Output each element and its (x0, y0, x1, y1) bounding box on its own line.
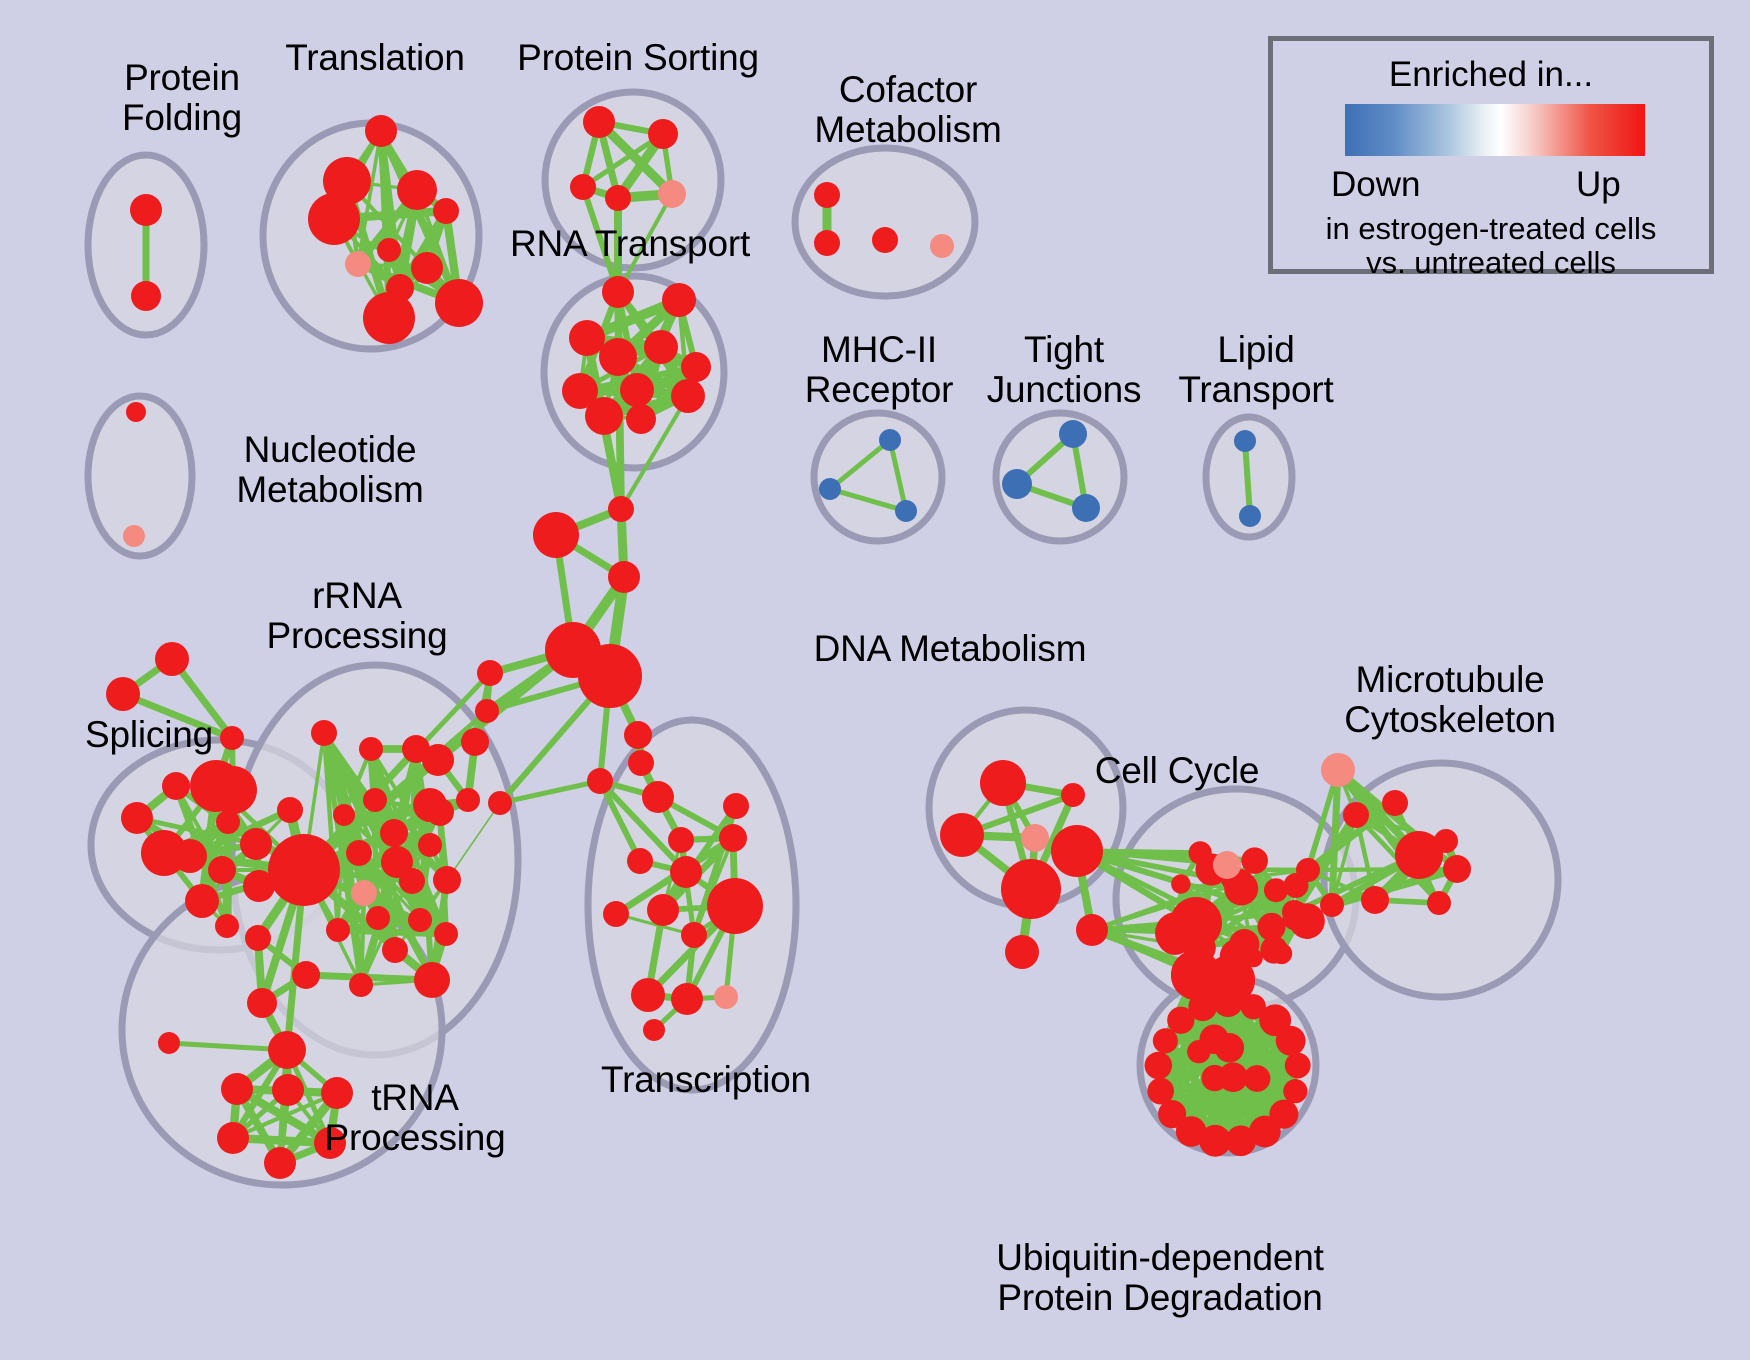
network-node (644, 330, 678, 364)
network-node (872, 227, 898, 253)
network-node (190, 760, 242, 812)
cluster-label-dna-metabolism: DNA Metabolism (770, 629, 1130, 669)
network-node (162, 772, 190, 800)
network-node (123, 525, 145, 547)
network-node (217, 1122, 249, 1154)
network-node (380, 819, 408, 847)
network-node (1434, 829, 1458, 853)
network-node (603, 901, 629, 927)
network-node (819, 478, 841, 500)
network-node (126, 402, 146, 422)
network-node (570, 174, 596, 200)
network-node (605, 185, 631, 211)
legend-box: Enriched in... Down Up in estrogen-treat… (1268, 36, 1714, 274)
network-node (326, 918, 350, 942)
network-node (422, 744, 454, 776)
legend-low-label: Down (1331, 165, 1420, 205)
network-node (413, 788, 447, 822)
network-node (647, 894, 679, 926)
network-node (1001, 859, 1061, 919)
network-node (583, 106, 615, 138)
network-node (1296, 858, 1320, 882)
network-node (477, 660, 503, 686)
network-node (631, 978, 665, 1012)
network-node (628, 750, 654, 776)
network-node (461, 728, 489, 756)
network-node (1276, 1026, 1306, 1056)
network-node (1059, 420, 1087, 448)
network-node (533, 512, 579, 558)
network-node (1260, 936, 1288, 964)
network-node (895, 500, 917, 522)
network-node (670, 856, 702, 888)
network-node (131, 281, 161, 311)
cluster-label-rrna-processing: rRNA Processing (212, 576, 502, 656)
network-node (1199, 1025, 1228, 1054)
network-node (643, 1019, 665, 1041)
network-node (1170, 897, 1222, 949)
cluster-label-nucleotide-metabolism: Nucleotide Metabolism (150, 430, 510, 510)
network-node (723, 793, 749, 819)
legend-title: Enriched in... (1273, 55, 1709, 95)
network-node (1382, 790, 1408, 816)
cluster-label-microtubule-cytoskeleton: Microtubule Cytoskeleton (1270, 660, 1630, 740)
network-node (1171, 874, 1190, 893)
network-node (311, 720, 337, 746)
network-node (1283, 1079, 1307, 1103)
cluster-label-lipid-transport: Lipid Transport (1116, 330, 1396, 410)
network-node (587, 768, 613, 794)
network-node (185, 884, 219, 918)
network-node (216, 810, 240, 834)
legend-caption-line-1: in estrogen-treated cells (1273, 211, 1709, 247)
network-node (658, 180, 686, 208)
network-node (1213, 851, 1241, 879)
network-node (671, 379, 705, 413)
legend-color-gradient (1345, 104, 1645, 156)
network-node (1343, 802, 1369, 828)
network-node (714, 985, 738, 1009)
network-node (377, 238, 401, 262)
network-node (1285, 1053, 1311, 1079)
cluster-label-trna-processing: tRNA Processing (270, 1078, 560, 1158)
network-node (308, 193, 360, 245)
network-node (1361, 886, 1389, 914)
network-node (1282, 900, 1306, 924)
network-node (668, 827, 694, 853)
network-node (363, 788, 387, 812)
network-node (1239, 505, 1261, 527)
network-node (333, 804, 355, 826)
network-node (399, 868, 425, 894)
network-node (363, 292, 415, 344)
legend-caption-line-2: vs. untreated cells (1273, 245, 1709, 281)
network-node (585, 397, 623, 435)
network-node (608, 561, 640, 593)
network-node (1021, 824, 1049, 852)
cluster-label-cofactor-metabolism: Cofactor Metabolism (728, 70, 1088, 150)
network-node (930, 234, 954, 258)
network-node (1229, 929, 1259, 959)
network-node (719, 824, 747, 852)
network-node (1241, 847, 1268, 874)
network-node (620, 373, 654, 407)
network-node (411, 252, 443, 284)
network-node (247, 988, 277, 1018)
network-node (121, 802, 153, 834)
network-node (240, 828, 272, 860)
network-node (569, 320, 605, 356)
network-node (608, 496, 634, 522)
cluster-ellipse-cofactor-metabolism (795, 148, 975, 296)
network-node (418, 833, 442, 857)
network-node (433, 866, 461, 894)
network-node (681, 352, 711, 382)
network-node (1264, 878, 1288, 902)
network-node (602, 276, 634, 308)
network-node (1051, 825, 1103, 877)
network-node (456, 788, 480, 812)
network-node (1443, 855, 1471, 883)
cluster-ellipse-mhc-ii-receptor (814, 413, 942, 541)
network-node (292, 961, 320, 989)
network-node (221, 1073, 253, 1105)
network-node (349, 973, 373, 997)
network-node (155, 642, 189, 676)
cluster-label-transcription: Transcription (546, 1060, 866, 1100)
network-node (397, 170, 437, 210)
network-node (1234, 430, 1256, 452)
network-node (578, 644, 642, 708)
network-node (624, 721, 652, 749)
network-edge (338, 930, 446, 934)
network-node (130, 194, 162, 226)
network-node (1201, 1065, 1227, 1091)
network-node (434, 922, 458, 946)
network-node (642, 781, 674, 813)
network-node (268, 834, 340, 906)
network-node (1147, 1078, 1174, 1105)
network-node (1072, 494, 1100, 522)
network-node (627, 848, 653, 874)
network-node (277, 797, 303, 823)
network-node (1427, 891, 1451, 915)
network-edge (361, 893, 364, 985)
network-node (707, 878, 763, 934)
network-node (435, 279, 483, 327)
network-node (1005, 935, 1039, 969)
network-node (208, 856, 236, 884)
network-node (366, 906, 390, 930)
network-node (1076, 914, 1108, 946)
network-node (346, 840, 372, 866)
network-node (488, 791, 512, 815)
network-node (879, 429, 901, 451)
network-node (671, 983, 703, 1015)
network-node (662, 283, 696, 317)
network-node (173, 839, 207, 873)
network-node (408, 908, 432, 932)
network-node (158, 1032, 180, 1054)
network-node (814, 230, 840, 256)
network-node (1244, 1065, 1271, 1092)
network-node (414, 962, 450, 998)
network-node (475, 699, 499, 723)
network-node (215, 914, 239, 938)
network-node (626, 404, 656, 434)
network-node (1205, 955, 1255, 1005)
cluster-label-cell-cycle: Cell Cycle (1037, 751, 1317, 791)
network-node (1145, 1052, 1173, 1080)
network-node (980, 760, 1026, 806)
network-node (599, 338, 637, 376)
network-node (106, 677, 140, 711)
network-node (681, 922, 707, 948)
cluster-label-rna-transport: RNA Transport (450, 224, 810, 264)
cluster-label-ubiquitin-degradation: Ubiquitin-dependent Protein Degradation (950, 1238, 1370, 1318)
network-node (382, 937, 408, 963)
network-node (940, 813, 984, 857)
network-node (245, 925, 271, 951)
network-node (1002, 469, 1032, 499)
network-node (351, 880, 377, 906)
network-node (345, 251, 371, 277)
network-node (433, 198, 459, 224)
cluster-label-splicing: Splicing (44, 715, 254, 755)
network-node (1321, 753, 1355, 787)
enrichment-map-figure: Protein FoldingTranslationProtein Sortin… (0, 0, 1750, 1360)
network-node (1320, 893, 1344, 917)
network-node (365, 115, 397, 147)
network-node (648, 119, 678, 149)
legend-high-label: Up (1576, 165, 1621, 205)
network-node (268, 1031, 306, 1069)
network-node (814, 182, 840, 208)
network-node (359, 737, 383, 761)
